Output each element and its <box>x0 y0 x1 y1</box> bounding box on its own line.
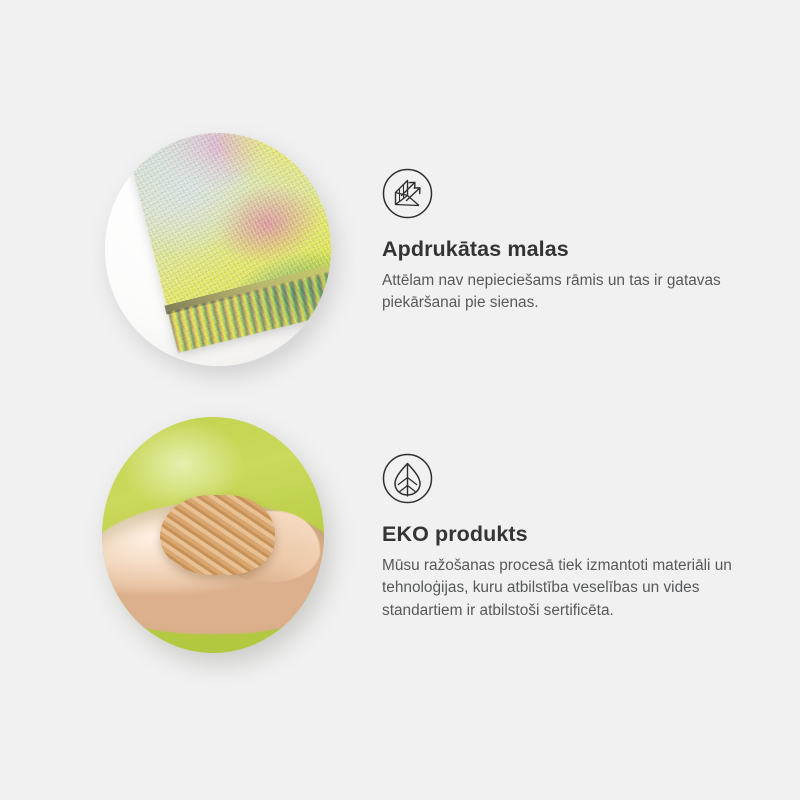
product-feature-page: Apdrukātas malas Attēlam nav nepieciešam… <box>0 0 800 800</box>
feature-block-eco-product: EKO produkts Mūsu ražošanas procesā tiek… <box>0 405 800 675</box>
copy-printed-edges: Apdrukātas malas Attēlam nav nepieciešam… <box>382 120 732 315</box>
media-printed-edges <box>70 120 330 380</box>
media-eco-product <box>70 405 330 665</box>
feature-block-printed-edges: Apdrukātas malas Attēlam nav nepieciešam… <box>0 120 800 390</box>
leaf-icon <box>382 453 433 504</box>
printed-edges-icon <box>382 168 433 219</box>
feature-description: Attēlam nav nepieciešams rāmis un tas ir… <box>382 270 732 315</box>
wood-chips <box>160 495 275 575</box>
feature-description: Mūsu ražošanas procesā tiek izmantoti ma… <box>382 555 732 622</box>
feature-title: Apdrukātas malas <box>382 237 732 263</box>
canvas-edge-photo <box>105 133 331 366</box>
eco-hands-photo <box>102 417 324 653</box>
copy-eco-product: EKO produkts Mūsu ražošanas procesā tiek… <box>382 405 732 622</box>
feature-title: EKO produkts <box>382 522 732 548</box>
